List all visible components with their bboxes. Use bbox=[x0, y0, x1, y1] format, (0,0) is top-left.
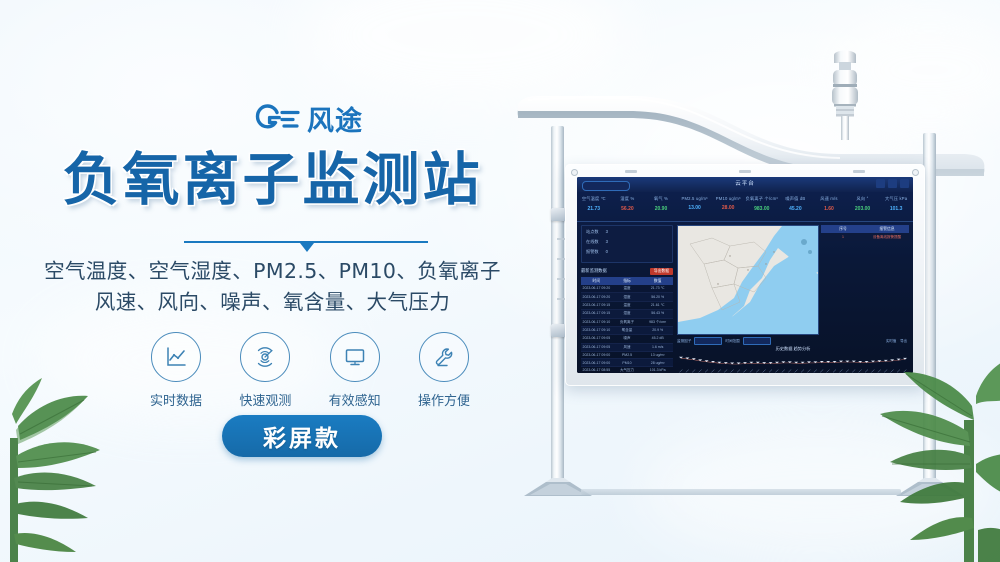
chart-range-select[interactable] bbox=[743, 337, 771, 345]
table-cell: 2023-06-17 09:05 bbox=[581, 344, 612, 351]
x-axis-tick-label bbox=[782, 370, 785, 373]
table-cell: 2023-06-17 09:10 bbox=[581, 319, 612, 326]
x-axis-tick-label bbox=[699, 370, 702, 373]
kpi-card: 湿度 %56.20 bbox=[611, 194, 645, 220]
bezel-vent bbox=[853, 170, 865, 173]
table-row[interactable]: 2023-06-17 09:20温度21.73 ℃ bbox=[581, 285, 673, 293]
x-axis-tick-label bbox=[743, 370, 746, 373]
x-axis-tick-label bbox=[807, 370, 810, 373]
table-cell: 负氧离子 bbox=[612, 319, 643, 326]
wrench-icon bbox=[431, 344, 457, 370]
table-cell: 56.20 % bbox=[642, 293, 673, 300]
dashboard-title: 云平台 bbox=[577, 179, 913, 187]
feature-label: 实时数据 bbox=[150, 390, 202, 409]
table-column-header: 时间 bbox=[581, 277, 612, 285]
kpi-card: 氧气 %20.90 bbox=[644, 194, 678, 220]
x-axis-tick-label bbox=[756, 370, 759, 373]
table-cell: 21.61 ℃ bbox=[642, 302, 673, 309]
poster-canvas: 风途 负氧离子监测站 空气温度、空气湿度、PM2.5、PM10、负氧离子 风速、… bbox=[0, 0, 1000, 562]
kpi-value: 101.3 bbox=[879, 206, 913, 212]
data-table-title: 最新监测数据 bbox=[581, 268, 607, 274]
kpi-value: 20.90 bbox=[644, 206, 678, 212]
table-cell: 45.2 dB bbox=[642, 335, 673, 342]
kpi-card: PM10 ug/m³28.00 bbox=[711, 194, 745, 220]
page-title: 负氧离子监测站 bbox=[0, 152, 545, 209]
data-table-header: 最新监测数据 导出数据 bbox=[581, 267, 673, 275]
x-axis-tick-label bbox=[788, 370, 791, 373]
subtitle-line-1: 空气温度、空气湿度、PM2.5、PM10、负氧离子 bbox=[0, 256, 545, 287]
x-axis-tick-label bbox=[769, 370, 772, 373]
table-cell: 氧含量 bbox=[612, 327, 643, 334]
kpi-card: 风向 °203.00 bbox=[846, 194, 880, 220]
table-cell: 1.6 m/s bbox=[642, 344, 673, 351]
summary-stat-row: 在线数3 bbox=[586, 239, 668, 245]
feature-icon-ring bbox=[240, 332, 290, 382]
table-row[interactable]: 2023-06-17 09:20湿度56.20 % bbox=[581, 293, 673, 301]
toolbar-icon[interactable] bbox=[888, 179, 897, 188]
data-point-marker bbox=[679, 357, 683, 359]
x-axis-tick-label bbox=[750, 370, 753, 373]
x-axis-tick-label bbox=[711, 370, 714, 373]
kpi-divider bbox=[577, 221, 913, 222]
feature-item-effective-sensing[interactable]: 有效感知 bbox=[319, 332, 391, 409]
x-axis-tick-label bbox=[814, 370, 817, 373]
table-row[interactable]: 2023-06-17 09:15温度21.61 ℃ bbox=[581, 302, 673, 310]
brand-logo: 风途 bbox=[255, 104, 363, 138]
support-post-left bbox=[551, 126, 564, 482]
summary-stat-value: 0 bbox=[606, 249, 608, 255]
ultrasonic-weather-sensor-icon bbox=[828, 48, 862, 140]
summary-stat-value: 3 bbox=[606, 229, 608, 235]
bezel-screw-icon bbox=[912, 169, 919, 176]
kpi-value: 203.00 bbox=[846, 206, 880, 212]
alert-columns: 序号报警信息 bbox=[821, 225, 909, 233]
kpi-strip: 空气温度 ℃21.73湿度 %56.20氧气 %20.90PM2.5 ug/m³… bbox=[577, 194, 913, 220]
kpi-card: 大气压 kPa101.3 bbox=[879, 194, 913, 220]
summary-stat-label: 站点数 bbox=[586, 229, 599, 235]
dashboard: 云平台 空气温度 ℃21.73湿度 %56.20氧气 %20.90PM2.5 u… bbox=[577, 177, 913, 373]
summary-stat-row: 站点数3 bbox=[586, 229, 668, 235]
table-cell: 2023-06-17 09:00 bbox=[581, 352, 612, 358]
x-axis-tick-label bbox=[679, 370, 682, 373]
chart-select-right-label: 时间范围 bbox=[725, 339, 739, 344]
table-cell: 大气压力 bbox=[612, 367, 643, 373]
x-axis-tick-label bbox=[801, 370, 804, 373]
kpi-label: 空气温度 ℃ bbox=[577, 196, 611, 202]
data-table-body: 2023-06-17 09:20温度21.73 ℃2023-06-17 09:2… bbox=[581, 285, 673, 373]
x-axis-tick-label bbox=[686, 370, 689, 373]
summary-stat-row: 报警数0 bbox=[586, 249, 668, 255]
feature-label: 操作方便 bbox=[418, 390, 470, 409]
table-cell: 28 ug/m³ bbox=[642, 359, 673, 365]
dashboard-toolbar[interactable] bbox=[876, 179, 909, 188]
x-axis-tick-label bbox=[795, 370, 798, 373]
table-cell: PM2.5 bbox=[612, 352, 643, 358]
x-axis-tick-label bbox=[718, 370, 721, 373]
x-axis-tick-label bbox=[820, 370, 823, 373]
table-cell: 101.3 kPa bbox=[642, 367, 673, 373]
radar-signal-icon bbox=[252, 344, 278, 370]
feature-list-text: 空气温度、空气湿度、PM2.5、PM10、负氧离子 风速、风向、噪声、氧含量、大… bbox=[0, 256, 545, 318]
divider-triangle-icon bbox=[300, 243, 314, 252]
kpi-card: 负氧离子 个/cm³983.00 bbox=[745, 194, 779, 220]
table-cell: 2023-06-17 09:15 bbox=[581, 302, 612, 309]
chart-factor-select[interactable] bbox=[694, 337, 722, 345]
kpi-label: 大气压 kPa bbox=[879, 196, 913, 202]
alert-column-header: 报警信息 bbox=[865, 225, 909, 233]
table-cell: 13 ug/m³ bbox=[642, 352, 673, 358]
table-cell: 983 个/cm³ bbox=[642, 319, 673, 326]
table-row[interactable]: 2023-06-17 09:00PM2.513 ug/m³ bbox=[581, 352, 673, 359]
kpi-card: 噪声值 dB45.20 bbox=[779, 194, 813, 220]
feature-icon-ring bbox=[330, 332, 380, 382]
summary-stat-label: 在线数 bbox=[586, 239, 599, 245]
feature-badges: 实时数据 快速观测 bbox=[140, 332, 480, 409]
kpi-label: 负氧离子 个/cm³ bbox=[745, 196, 779, 202]
toolbar-icon[interactable] bbox=[900, 179, 909, 188]
kpi-value: 13.00 bbox=[678, 205, 712, 211]
x-axis-tick-label bbox=[827, 370, 830, 373]
table-cell: 噪声 bbox=[612, 335, 643, 342]
table-cell: 温度 bbox=[612, 285, 643, 292]
alert-cell: 1 bbox=[821, 233, 865, 241]
kpi-value: 983.00 bbox=[745, 206, 779, 212]
kpi-value: 1.60 bbox=[812, 206, 846, 212]
table-row[interactable]: 2023-06-17 09:05噪声45.2 dB bbox=[581, 335, 673, 343]
monitor-screen-icon bbox=[342, 344, 368, 370]
table-cell: 2023-06-17 09:20 bbox=[581, 285, 612, 292]
x-axis-tick-label bbox=[833, 370, 836, 373]
table-cell: 2023-06-17 09:05 bbox=[581, 335, 612, 342]
table-cell: 湿度 bbox=[612, 293, 643, 300]
table-cell: 2023-06-17 09:00 bbox=[581, 359, 612, 365]
feature-label: 快速观测 bbox=[239, 390, 291, 409]
table-cell: PM10 bbox=[612, 359, 643, 365]
feature-label: 有效感知 bbox=[329, 390, 381, 409]
kpi-label: PM2.5 ug/m³ bbox=[678, 196, 712, 201]
kpi-label: 湿度 % bbox=[611, 196, 645, 202]
table-row[interactable]: 2023-06-17 09:15湿度56.43 % bbox=[581, 310, 673, 318]
table-cell: 2023-06-17 08:55 bbox=[581, 367, 612, 373]
kpi-label: 风向 ° bbox=[846, 196, 880, 202]
feature-icon-ring bbox=[419, 332, 469, 382]
table-cell: 湿度 bbox=[612, 310, 643, 317]
table-column-header: 数值 bbox=[642, 277, 673, 285]
table-cell: 20.9 % bbox=[642, 327, 673, 334]
kpi-label: 氧气 % bbox=[644, 196, 678, 202]
line-chart-icon bbox=[163, 344, 189, 370]
chart-controls: 监测因子 时间范围 实时值 导出 bbox=[677, 337, 909, 345]
table-cell: 56.43 % bbox=[642, 310, 673, 317]
table-row[interactable]: 2023-06-17 08:55大气压力101.3 kPa bbox=[581, 367, 673, 373]
x-axis-tick-label bbox=[775, 370, 778, 373]
kpi-card: 风速 m/s1.60 bbox=[812, 194, 846, 220]
bezel-vent bbox=[739, 170, 751, 173]
chart-export-button[interactable]: 导出 bbox=[900, 338, 907, 343]
bezel-vent bbox=[625, 170, 637, 173]
chart-select-left-label: 监测因子 bbox=[677, 339, 691, 344]
kpi-value: 21.73 bbox=[577, 206, 611, 212]
export-data-button[interactable]: 导出数据 bbox=[650, 268, 673, 275]
alert-rows: 1设备离线报警提醒 bbox=[821, 233, 909, 241]
toolbar-icon[interactable] bbox=[876, 179, 885, 188]
feature-item-easy-operation[interactable]: 操作方便 bbox=[408, 332, 480, 409]
table-cell: 2023-06-17 09:20 bbox=[581, 293, 612, 300]
summary-stats: 站点数3在线数3报警数0 bbox=[581, 225, 673, 263]
table-row[interactable]: 2023-06-17 09:10氧含量20.9 % bbox=[581, 327, 673, 335]
table-row[interactable]: 2023-06-17 09:10负氧离子983 个/cm³ bbox=[581, 319, 673, 327]
table-cell: 2023-06-17 09:15 bbox=[581, 310, 612, 317]
dashboard-header: 云平台 bbox=[577, 177, 913, 192]
title-divider bbox=[184, 238, 428, 252]
kpi-label: 噪声值 dB bbox=[779, 196, 813, 202]
legend-entry: 实时值 bbox=[886, 338, 896, 343]
kpi-value: 28.00 bbox=[711, 205, 745, 211]
data-table-columns: 时间指标数值 bbox=[581, 277, 673, 285]
feature-item-fast-observation[interactable]: 快速观测 bbox=[229, 332, 301, 409]
kpi-value: 56.20 bbox=[611, 206, 645, 212]
x-axis-tick-label bbox=[692, 370, 695, 373]
china-map-icon bbox=[678, 226, 818, 334]
display-screen[interactable]: 云平台 空气温度 ℃21.73湿度 %56.20氧气 %20.90PM2.5 u… bbox=[577, 177, 913, 373]
alert-column-header: 序号 bbox=[821, 225, 865, 233]
table-cell: 21.73 ℃ bbox=[642, 285, 673, 292]
kpi-value: 45.20 bbox=[779, 206, 813, 212]
kpi-card: PM2.5 ug/m³13.00 bbox=[678, 194, 712, 220]
x-axis-tick-label bbox=[731, 370, 734, 373]
feature-item-realtime-data[interactable]: 实时数据 bbox=[140, 332, 212, 409]
bezel-screw-icon bbox=[571, 169, 578, 176]
table-row[interactable]: 2023-06-17 09:05风速1.6 m/s bbox=[581, 344, 673, 352]
cta-button[interactable]: 彩屏款 bbox=[222, 415, 382, 457]
brand-name: 风途 bbox=[307, 108, 363, 135]
summary-stat-label: 报警数 bbox=[586, 249, 599, 255]
alert-panel: 序号报警信息 1设备离线报警提醒 bbox=[821, 225, 909, 249]
alert-cell: 设备离线报警提醒 bbox=[865, 233, 909, 241]
left-panel: 站点数3在线数3报警数0 最新监测数据 导出数据 时间指标数值 2023-06-… bbox=[581, 225, 673, 369]
banana-leaf-plant-right bbox=[846, 360, 1000, 562]
alert-row[interactable]: 1设备离线报警提醒 bbox=[821, 233, 909, 241]
feature-icon-ring bbox=[151, 332, 201, 382]
summary-stat-value: 3 bbox=[606, 239, 608, 245]
table-row[interactable]: 2023-06-17 09:00PM1028 ug/m³ bbox=[581, 359, 673, 366]
x-axis-tick-label bbox=[737, 370, 740, 373]
x-axis-tick-label bbox=[839, 370, 842, 373]
table-cell: 2023-06-17 09:10 bbox=[581, 327, 612, 334]
kpi-label: PM10 ug/m³ bbox=[711, 196, 745, 201]
display-bezel: 云平台 空气温度 ℃21.73湿度 %56.20氧气 %20.90PM2.5 u… bbox=[565, 164, 925, 386]
chart-legend: 实时值 导出 bbox=[886, 338, 907, 343]
banana-leaf-plant-left bbox=[0, 368, 142, 562]
x-axis-tick-label bbox=[763, 370, 766, 373]
x-axis-tick-label bbox=[705, 370, 708, 373]
table-column-header: 指标 bbox=[612, 277, 643, 285]
china-map[interactable] bbox=[677, 225, 819, 335]
kpi-card: 空气温度 ℃21.73 bbox=[577, 194, 611, 220]
table-cell: 风速 bbox=[612, 344, 643, 351]
wind-g-logo-icon bbox=[255, 104, 301, 138]
kpi-label: 风速 m/s bbox=[812, 196, 846, 202]
subtitle-line-2: 风速、风向、噪声、氧含量、大气压力 bbox=[0, 287, 545, 318]
table-cell: 温度 bbox=[612, 302, 643, 309]
x-axis-tick-label bbox=[724, 370, 727, 373]
